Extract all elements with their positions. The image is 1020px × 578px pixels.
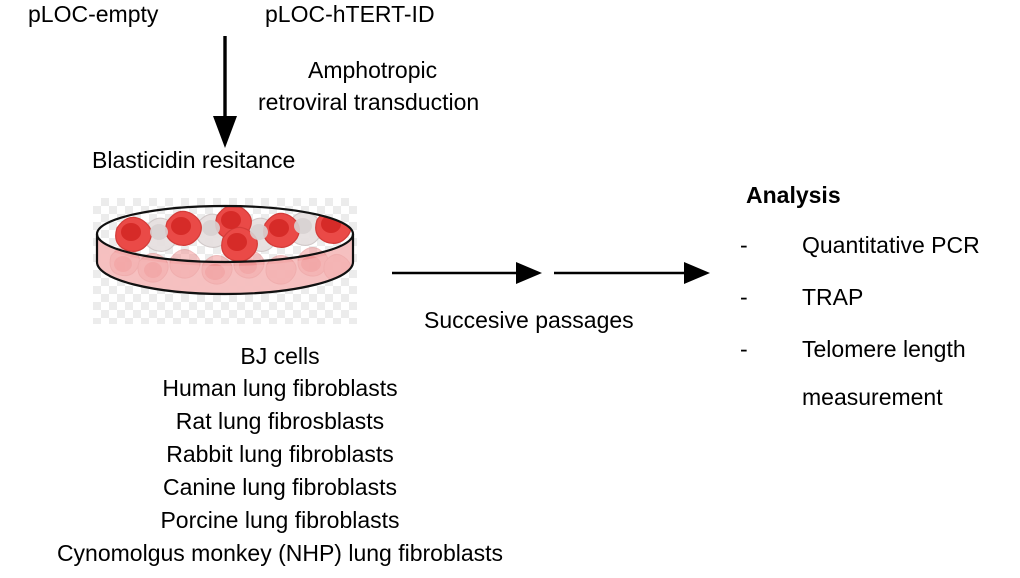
analysis-item-1: - TRAP bbox=[740, 284, 863, 311]
successive-passages-label: Succesive passages bbox=[424, 308, 634, 333]
analysis-item-0: - Quantitative PCR bbox=[740, 232, 980, 259]
cell-type-item-0: BJ cells bbox=[0, 344, 560, 369]
analysis-item-label-2: Telomere length bbox=[802, 336, 966, 363]
cell-type-item-4: Canine lung fibroblasts bbox=[0, 475, 560, 500]
figure-canvas: pLOC-empty pLOC-hTERT-ID Amphotropic ret… bbox=[0, 0, 1020, 578]
cell-type-item-1: Human lung fibroblasts bbox=[0, 376, 560, 401]
plasmid-empty-label: pLOC-empty bbox=[28, 2, 158, 27]
cell-type-item-3: Rabbit lung fibroblasts bbox=[0, 442, 560, 467]
cell-type-item-2: Rat lung fibrosblasts bbox=[0, 409, 560, 434]
right-arrow-icon-2 bbox=[554, 260, 710, 286]
analysis-bullet-icon-2: - bbox=[740, 336, 802, 363]
down-arrow-icon bbox=[206, 36, 244, 148]
plasmid-htert-label: pLOC-hTERT-ID bbox=[265, 2, 435, 27]
right-arrow-icon-1 bbox=[392, 260, 542, 286]
analysis-bullet-icon-0: - bbox=[740, 232, 802, 259]
analysis-heading: Analysis bbox=[746, 183, 841, 208]
blasticidin-resistance-label: Blasticidin resitance bbox=[92, 148, 295, 173]
analysis-item-2: - Telomere length bbox=[740, 336, 966, 363]
analysis-item-label-0: Quantitative PCR bbox=[802, 232, 980, 259]
transduction-caption-line2: retroviral transduction bbox=[258, 90, 479, 115]
cell-type-item-5: Porcine lung fibroblasts bbox=[0, 508, 560, 533]
analysis-item-label-2-continuation: measurement bbox=[802, 385, 943, 410]
analysis-item-label-1: TRAP bbox=[802, 284, 863, 311]
analysis-bullet-icon-1: - bbox=[740, 284, 802, 311]
transduction-caption-line1: Amphotropic bbox=[308, 58, 437, 83]
petri-dish-illustration bbox=[93, 198, 357, 324]
cell-type-item-6: Cynomolgus monkey (NHP) lung fibroblasts bbox=[0, 541, 560, 566]
